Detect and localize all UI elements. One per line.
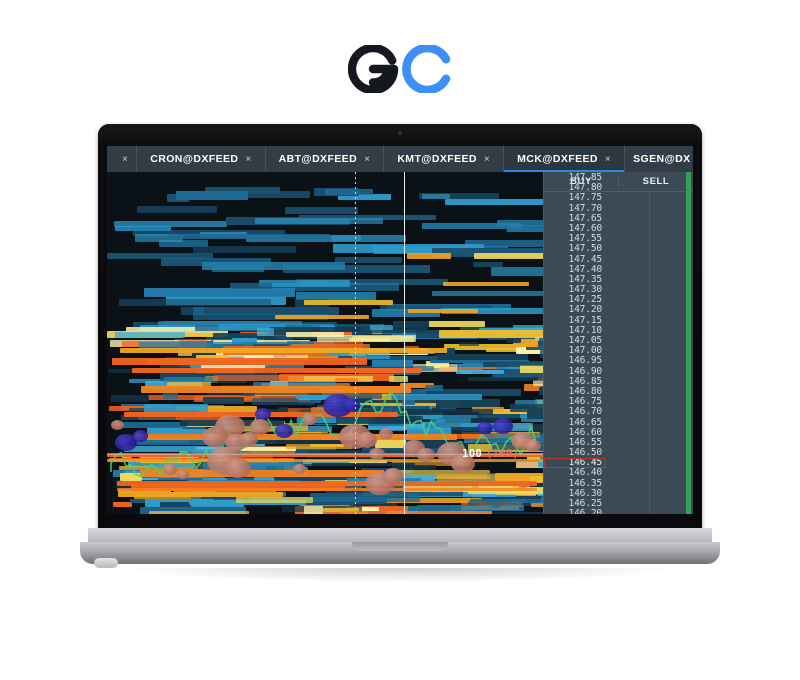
sell-volume-bubble bbox=[379, 428, 393, 439]
laptop-shadow bbox=[128, 568, 672, 582]
qty-total: (100) bbox=[486, 447, 519, 460]
sell-button[interactable]: SELL bbox=[619, 176, 693, 187]
buy-volume-bubble bbox=[493, 418, 513, 434]
order-quantity-tag: 100 (100) bbox=[462, 447, 519, 460]
tab-label: MCK@DXFEED bbox=[517, 153, 598, 165]
qty-filled: 100 bbox=[462, 447, 482, 460]
price-row[interactable]: 146.70 bbox=[544, 407, 606, 417]
tab-partial-left[interactable]: × bbox=[107, 146, 137, 172]
sell-volume-bubble bbox=[383, 468, 403, 484]
gc-infinity-logo bbox=[348, 45, 452, 93]
price-trace-line bbox=[107, 172, 544, 514]
buy-volume-bubble bbox=[275, 424, 293, 438]
price-row[interactable]: 147.50 bbox=[544, 244, 606, 254]
price-row[interactable]: 146.20 bbox=[544, 509, 606, 514]
close-icon[interactable]: × bbox=[122, 154, 128, 165]
tab-cron[interactable]: CRON@DXFEED × bbox=[137, 146, 265, 172]
column-divider bbox=[649, 191, 650, 514]
close-icon[interactable]: × bbox=[245, 154, 251, 165]
sell-volume-bubble bbox=[163, 464, 177, 475]
tab-label: KMT@DXFEED bbox=[397, 153, 477, 165]
laptop-base bbox=[80, 528, 720, 572]
brand-logo bbox=[0, 34, 800, 104]
close-icon[interactable]: × bbox=[605, 154, 611, 165]
tab-sgen[interactable]: SGEN@DX bbox=[625, 146, 693, 172]
chart-area[interactable]: 100 (100) BUY bbox=[107, 172, 693, 514]
crosshair-dotted-line bbox=[355, 172, 356, 514]
webcam-icon bbox=[398, 131, 402, 135]
tab-bar: × CRON@DXFEED × ABT@DXFEED × KMT@DXFEED … bbox=[107, 146, 693, 172]
laptop-mockup: × CRON@DXFEED × ABT@DXFEED × KMT@DXFEED … bbox=[80, 124, 720, 584]
trading-app: × CRON@DXFEED × ABT@DXFEED × KMT@DXFEED … bbox=[107, 146, 693, 514]
tab-label: ABT@DXFEED bbox=[279, 153, 357, 165]
tab-label: CRON@DXFEED bbox=[150, 153, 238, 165]
sell-volume-bubble bbox=[417, 448, 435, 462]
page-root: × CRON@DXFEED × ABT@DXFEED × KMT@DXFEED … bbox=[0, 0, 800, 680]
tab-mck[interactable]: MCK@DXFEED × bbox=[504, 146, 625, 172]
laptop-screen: × CRON@DXFEED × ABT@DXFEED × KMT@DXFEED … bbox=[107, 146, 693, 514]
close-icon[interactable]: × bbox=[364, 154, 370, 165]
laptop-foot bbox=[94, 558, 118, 568]
tab-kmt[interactable]: KMT@DXFEED × bbox=[384, 146, 504, 172]
sell-volume-bubble bbox=[303, 414, 317, 425]
price-ladder[interactable]: BUY SELL 147.85147.80147.75147.70147.651… bbox=[543, 172, 693, 514]
order-entry-columns[interactable] bbox=[606, 191, 693, 514]
price-column[interactable]: 147.85147.80147.75147.70147.65147.60147.… bbox=[544, 172, 606, 514]
depth-indicator-bar bbox=[686, 172, 691, 514]
crosshair-solid-line bbox=[404, 172, 405, 514]
orderflow-heatmap[interactable] bbox=[107, 172, 544, 514]
tab-label: SGEN@DX bbox=[633, 153, 690, 165]
sell-volume-bubble bbox=[240, 432, 258, 446]
close-icon[interactable]: × bbox=[484, 154, 490, 165]
buy-volume-bubble bbox=[133, 430, 148, 442]
laptop-notch bbox=[352, 542, 448, 551]
sell-volume-bubble bbox=[357, 432, 377, 448]
tab-abt[interactable]: ABT@DXFEED × bbox=[266, 146, 385, 172]
